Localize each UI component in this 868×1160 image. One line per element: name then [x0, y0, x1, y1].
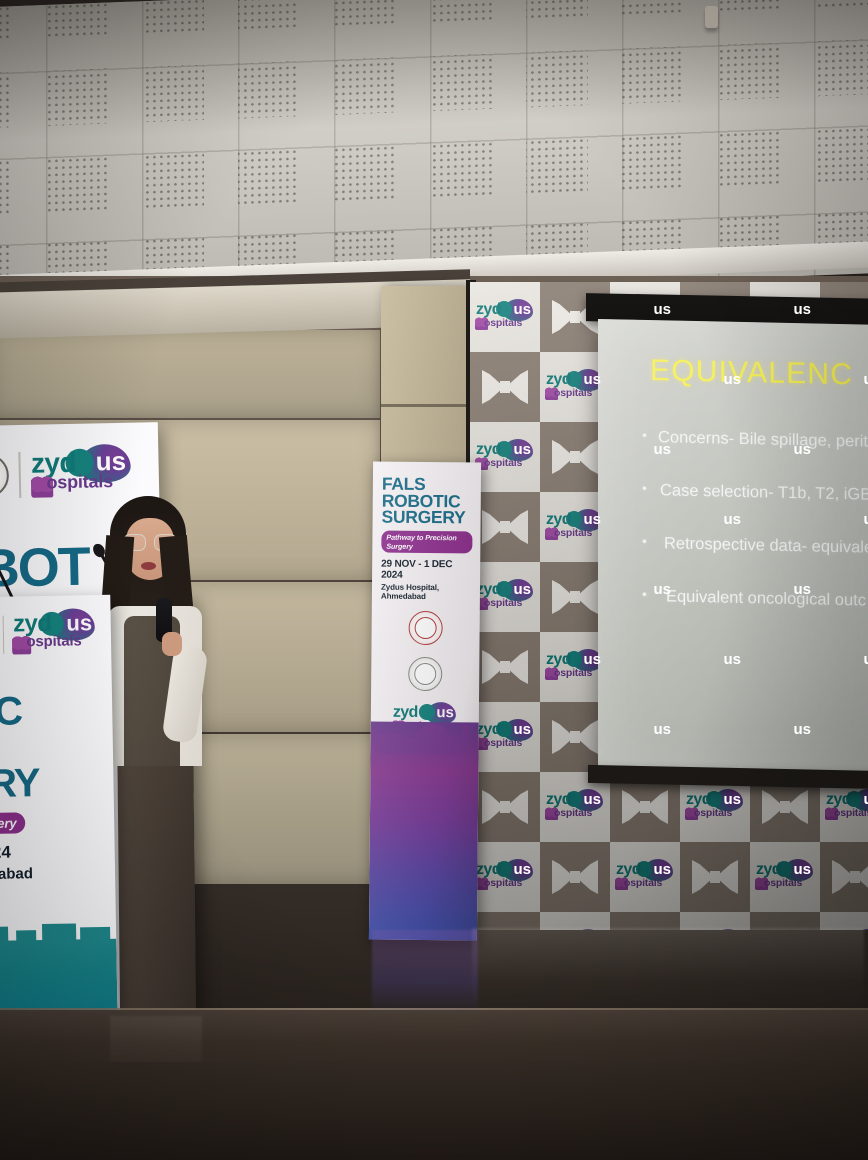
zydus-wordmark-2: us — [723, 510, 741, 529]
podium-banner-title-1: OTIC — [0, 691, 113, 732]
backdrop-tile-icon — [470, 632, 540, 702]
stage-front-face — [0, 1062, 868, 1160]
backdrop-tile-logo: zydusospitals — [470, 562, 540, 632]
backdrop-tile-logo: zydusospitals — [610, 842, 680, 912]
zydus-logo: zydusospitals — [545, 790, 605, 824]
podium-banner-dates: EC 2024 — [0, 841, 115, 864]
zydus-logo: zydusospitals — [615, 860, 675, 894]
backdrop-tile-icon — [540, 842, 610, 912]
zydus-wordmark-2: us — [863, 510, 868, 529]
zydus-logo: zydusospitals — [755, 860, 815, 894]
zydus-wordmark-2: us — [513, 440, 531, 459]
zydus-wordmark-2: us — [436, 703, 454, 722]
zydus-logo: zydusospitals — [475, 440, 535, 474]
mouth — [141, 562, 156, 570]
slide-title: EQUIVALENC — [650, 354, 868, 393]
floor-reflection — [472, 928, 864, 1016]
butterfly-h-icon — [552, 580, 598, 614]
society-seal-icon — [0, 453, 9, 498]
zydus-wordmark-2: us — [653, 440, 671, 459]
zydus-logo: zydusospitals — [545, 370, 605, 404]
floor-reflection — [372, 930, 478, 1015]
zydus-wordmark-2: us — [513, 860, 531, 879]
zydus-wordmark-2: us — [513, 720, 531, 739]
backdrop-tile-icon — [820, 842, 868, 912]
slide-bullet-list: Concerns- Bile spillage, perit Case sele… — [642, 428, 868, 611]
zydus-wordmark-2: us — [513, 580, 531, 599]
butterfly-h-icon — [762, 790, 808, 824]
slide-bullet: Retrospective data- equivale — [642, 534, 868, 558]
standee-tagline: Pathway to Precision Surgery — [381, 530, 472, 553]
zydus-wordmark-2: us — [863, 370, 868, 389]
butterfly-h-icon — [482, 790, 528, 824]
skyline-silhouette-icon — [0, 923, 116, 945]
zydus-logo: zydusospitals — [825, 790, 868, 824]
podium-banner-tagline: sion Surgery — [0, 812, 26, 835]
standee-title-line3: SURGERY — [382, 509, 473, 526]
zydus-wordmark-2: us — [793, 300, 811, 319]
zydus-wordmark-2: us — [863, 650, 868, 669]
zydus-wordmark-2: us — [793, 860, 811, 879]
zydus-wordmark-2: us — [723, 370, 741, 389]
photo-scene: zydusospitalszydusospitalszydusospitalsz… — [0, 0, 868, 1160]
zydus-logo: zydusospitals — [475, 720, 535, 754]
wall-panel — [0, 330, 380, 418]
zydus-logo: zyd us ospitals — [12, 609, 99, 658]
zydus-wordmark-2: us — [793, 440, 811, 459]
slide-bullet: Concerns- Bile spillage, perit — [642, 428, 868, 452]
zydus-wordmark-2: us — [653, 720, 671, 739]
zydus-wordmark-2: us — [723, 650, 741, 669]
butterfly-h-icon — [552, 440, 598, 474]
zydus-wordmark-2: us — [583, 510, 601, 529]
podium-banner-venue: Ahmedabad — [0, 864, 115, 884]
standee-dates: 29 NOV - 1 DEC 2024 — [381, 558, 472, 581]
backdrop-tile-icon — [680, 842, 750, 912]
zydus-logo: zydusospitals — [545, 650, 605, 684]
zydus-wordmark-2: us — [793, 580, 811, 599]
zydus-wordmark-2: us — [583, 650, 601, 669]
zydus-wordmark-2: us — [513, 300, 531, 319]
butterfly-h-icon — [482, 650, 528, 684]
backdrop-tile-logo: zydusospitals — [470, 702, 540, 772]
backdrop-tile-icon — [470, 772, 540, 842]
zydus-wordmark-2: us — [863, 790, 868, 809]
skyline-silhouette-icon — [371, 720, 479, 755]
slide-bullet: Case selection- T1b, T2, iGB — [642, 481, 868, 505]
zydus-wordmark-2: us — [653, 860, 671, 879]
zydus-logo: zydusospitals — [475, 300, 535, 334]
zydus-wordmark-2: us — [66, 609, 92, 637]
backdrop-tile-logo: zydusospitals — [470, 282, 540, 352]
zydus-wordmark-2: us — [723, 790, 741, 809]
podium-banner-title-2: GERY — [0, 763, 114, 804]
butterfly-h-icon — [482, 510, 528, 544]
fals-standee: FALS ROBOTIC SURGERY Pathway to Precisio… — [369, 462, 481, 941]
ahmedabad-skyline-graphic — [369, 722, 479, 941]
zydus-logo: zydusospitals — [475, 860, 535, 894]
butterfly-h-icon — [622, 790, 668, 824]
zydus-wordmark-2: us — [583, 790, 601, 809]
society-emblem-icon — [408, 610, 442, 644]
zydus-logo: zydusospitals — [545, 510, 605, 544]
butterfly-h-icon — [552, 720, 598, 754]
zydus-logo: zydusospitals — [685, 790, 745, 824]
backdrop-tile-icon — [470, 352, 540, 422]
zydus-wordmark-2: us — [793, 720, 811, 739]
zydus-logo: zydusospitals — [475, 580, 535, 614]
hand — [162, 632, 182, 656]
zydus-wordmark-2: us — [653, 300, 671, 319]
zydus-wordmark-2: us — [95, 445, 126, 479]
butterfly-h-icon — [832, 860, 868, 894]
zydus-logo: zyd us ospitals — [30, 445, 135, 503]
standee-venue: Zydus Hospital, Ahmedabad — [381, 582, 472, 601]
sprinkler-head-icon — [705, 6, 718, 28]
backdrop-tile-logo: zydusospitals — [750, 842, 820, 912]
divider — [18, 452, 20, 498]
divider — [3, 616, 5, 654]
society-emblem-icon — [408, 656, 442, 690]
zydus-wordmark-2: us — [583, 370, 601, 389]
slide-bullet: Equivalent oncological outc — [642, 587, 868, 611]
podium-banner: zyd us ospitals OTIC GERY sion Surgery E… — [0, 595, 118, 1027]
butterfly-h-icon — [692, 860, 738, 894]
zydus-wordmark-2: us — [653, 580, 671, 599]
butterfly-h-icon — [482, 370, 528, 404]
butterfly-h-icon — [552, 860, 598, 894]
backdrop-tile-logo: zydusospitals — [470, 842, 540, 912]
